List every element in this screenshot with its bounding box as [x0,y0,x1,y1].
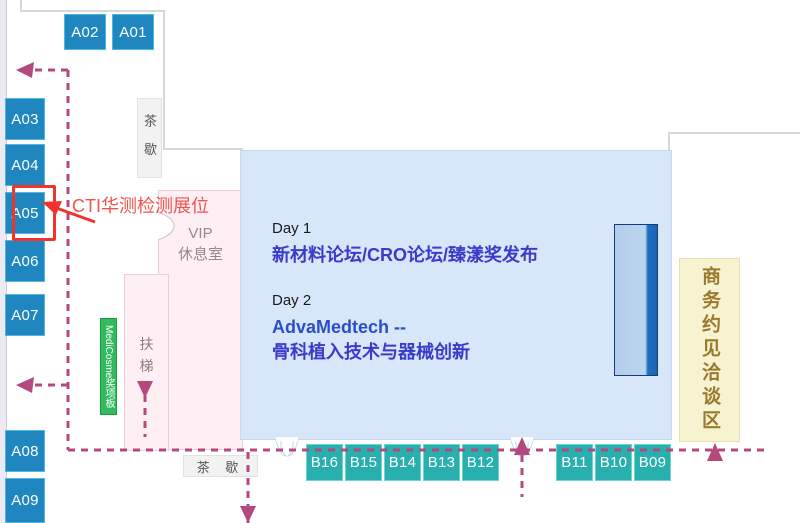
booth-A07[interactable]: A07 [5,294,45,336]
booth-B15[interactable]: B15 [345,444,382,481]
booth-A03[interactable]: A03 [5,98,45,140]
booth-B15-label: B15 [350,454,378,471]
medicosme-award-board[interactable]: MediCosme奖项板 [100,318,117,415]
booth-B13[interactable]: B13 [423,444,460,481]
booth-B09-label: B09 [639,454,667,471]
day2-session-line1: AdvaMedtech -- [272,315,538,340]
booth-A02-label: A02 [71,24,99,41]
arrow-down-bottom [240,506,256,523]
day2-heading: Day 2 [272,292,538,309]
arrow-left-top [16,62,34,78]
arrow-left-mid [16,377,34,393]
tea-break-room-top: 茶 歇 [137,98,162,178]
booth-A09-label: A09 [11,492,39,509]
booth-A09[interactable]: A09 [5,478,45,523]
booth-B14[interactable]: B14 [384,444,421,481]
booth-A07-label: A07 [11,307,39,324]
day2-session-line2: 骨科植入技术与器械创新 [272,340,538,365]
booth-B16[interactable]: B16 [306,444,343,481]
escalator-area: 扶 梯 [124,274,169,451]
booth-A06[interactable]: A06 [5,240,45,282]
escalator-label: 扶 梯 [125,333,168,377]
booth-A04-label: A04 [11,157,39,174]
main-conference-hall: Day 1 新材料论坛/CRO论坛/臻漾奖发布 Day 2 AdvaMedtec… [240,150,672,440]
tea-break-room-bottom: 茶 歇 [183,455,258,477]
vip-lounge-room: VIP 休息室 [158,190,243,450]
booth-A06-label: A06 [11,253,39,270]
tea-break-bottom-label: 茶 歇 [197,457,245,476]
wall-top-horizontal [20,10,165,12]
day1-sessions: 新材料论坛/CRO论坛/臻漾奖发布 [272,243,538,268]
escalator-label-line2: 梯 [125,355,168,377]
booth-B10[interactable]: B10 [595,444,632,481]
vip-label-line1: VIP [159,223,242,244]
vip-label-line2: 休息室 [159,244,242,265]
booth-A01-label: A01 [119,24,147,41]
wall-top-right-vertical [163,10,165,150]
callout-label: CTI华测检测展位 [72,192,209,218]
exhibition-floor-plan: 茶 歇 VIP 休息室 扶 梯 MediCosme奖项板 茶 歇 Day 1 新… [0,0,800,523]
booth-A04[interactable]: A04 [5,144,45,186]
tea-break-top-label: 茶 歇 [140,114,159,162]
business-meeting-zone-label: 商务约见洽谈区 [696,266,723,434]
wall-midtop-horizontal [163,148,243,150]
booth-B09[interactable]: B09 [634,444,671,481]
booth-B10-label: B10 [600,454,628,471]
booth-A01[interactable]: A01 [112,14,154,50]
booth-A03-label: A03 [11,111,39,128]
booth-A08[interactable]: A08 [5,430,45,472]
booth-B13-label: B13 [428,454,456,471]
hall-agenda-text: Day 1 新材料论坛/CRO论坛/臻漾奖发布 Day 2 AdvaMedtec… [272,220,538,365]
vip-room-label: VIP 休息室 [159,223,242,265]
booth-A02[interactable]: A02 [64,14,106,50]
arrow-up-right [707,443,723,461]
hall-stage-screen [614,224,658,376]
booth-B14-label: B14 [389,454,417,471]
day1-heading: Day 1 [272,220,538,237]
booth-B11[interactable]: B11 [556,444,593,481]
highlight-box-A05 [12,185,56,241]
award-board-label: MediCosme奖项板 [101,325,116,408]
booth-A08-label: A08 [11,443,39,460]
wall-right-top-horizontal [668,132,800,134]
escalator-label-line1: 扶 [125,333,168,355]
business-meeting-zone: 商务约见洽谈区 [679,258,740,442]
booth-B12-label: B12 [467,454,495,471]
booth-B12[interactable]: B12 [462,444,499,481]
booth-B11-label: B11 [561,454,587,471]
booth-B16-label: B16 [311,454,339,471]
